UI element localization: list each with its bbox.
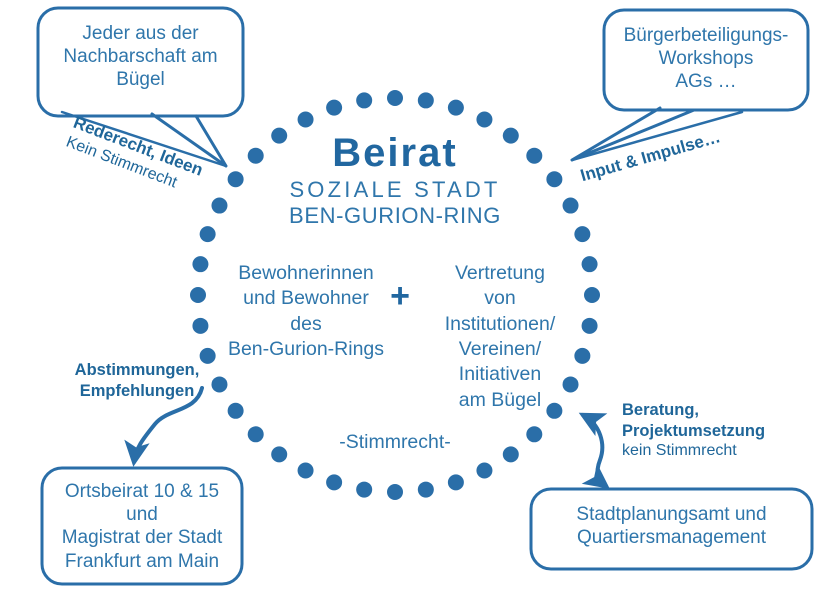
annotation-beratung: Beratung, Projektumsetzung kein Stimmrec…: [622, 400, 820, 461]
ring-dot: [476, 111, 492, 127]
ring-dot: [546, 171, 562, 187]
members-institutions-column: Vertretung von Institutionen/ Vereinen/ …: [420, 261, 580, 413]
annotation-beratung-line3: kein Stimmrecht: [622, 441, 820, 461]
ring-dot: [387, 484, 403, 500]
ring-dot: [298, 111, 314, 127]
annotation-beratung-line1: Beratung,: [622, 400, 820, 421]
ring-dot: [326, 474, 342, 490]
ring-dot: [211, 198, 227, 214]
bubble-nachbarschaft-label: Jeder aus der Nachbarschaft am Bügel: [40, 22, 241, 92]
ring-dot: [387, 90, 403, 106]
annotation-abstimmungen: Abstimmungen, Empfehlungen: [47, 360, 227, 401]
members-residents-column: Bewohnerinnen und Bewohner des Ben-Gurio…: [218, 261, 394, 362]
ring-dot: [476, 463, 492, 479]
arrow-beratung: [583, 415, 606, 486]
ring-dot: [582, 318, 598, 334]
ring-dot: [200, 226, 216, 242]
ring-dot: [356, 92, 372, 108]
ring-dot: [192, 256, 208, 272]
voting-rights-note: -Stimmrecht-: [320, 431, 470, 455]
ring-dot: [448, 100, 464, 116]
ring-dot: [248, 426, 264, 442]
ring-dot: [356, 482, 372, 498]
ring-dot: [228, 171, 244, 187]
ring-dot: [584, 287, 600, 303]
ring-dot: [326, 100, 342, 116]
ring-dot: [574, 226, 590, 242]
ring-dot: [582, 256, 598, 272]
ring-dot: [526, 426, 542, 442]
ring-dot: [192, 318, 208, 334]
ring-dot: [271, 446, 287, 462]
box-ortsbeirat-label: Ortsbeirat 10 & 15 und Magistrat der Sta…: [44, 480, 240, 573]
annotation-abstimmungen-line2: Empfehlungen: [47, 381, 227, 402]
ring-dot: [190, 287, 206, 303]
ring-dot: [298, 463, 314, 479]
page-title: Beirat: [245, 129, 545, 178]
annotation-beratung-line2: Projektumsetzung: [622, 421, 820, 442]
bubble-buergerbeteiligung-label: Bürgerbeteiligungs- Workshops AGs …: [606, 24, 806, 94]
diagram-canvas: Jeder aus der Nachbarschaft am Bügel Bür…: [0, 0, 820, 600]
ring-dot: [418, 92, 434, 108]
page-subtitle-2: BEN-GURION-RING: [245, 203, 545, 230]
plus-icon: +: [387, 279, 413, 313]
ring-dot: [228, 403, 244, 419]
box-stadtplanungsamt-label: Stadtplanungsamt und Quartiersmanagement: [533, 503, 810, 549]
ring-dot: [418, 482, 434, 498]
ring-dot: [448, 474, 464, 490]
annotation-abstimmungen-line1: Abstimmungen,: [47, 360, 227, 381]
ring-dot: [503, 446, 519, 462]
page-subtitle-1: SOZIALE STADT: [245, 177, 545, 204]
ring-dot: [563, 198, 579, 214]
